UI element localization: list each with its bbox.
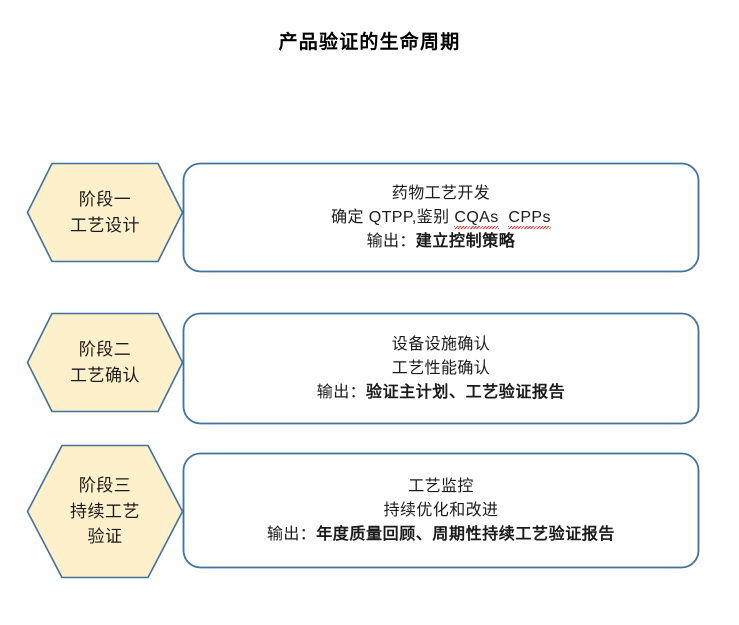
hexagon-shape xyxy=(28,446,183,578)
page-title: 产品验证的生命周期 xyxy=(0,27,739,54)
hexagon-shape xyxy=(28,164,183,262)
stage-row-3: 阶段三 持续工艺 验证 工艺监控 持续优化和改进 输出：年度质量回顾、周期性持续… xyxy=(0,442,739,582)
stage-3-hexagon[interactable] xyxy=(26,444,184,579)
stage-row-1: 阶段一 工艺设计 药物工艺开发 确定 QTPP,鉴别 CQAs CPPs 输出：… xyxy=(0,160,739,278)
box-shape xyxy=(184,314,699,424)
stage-2-box[interactable] xyxy=(182,312,700,425)
stage-row-2: 阶段二 工艺确认 设备设施确认 工艺性能确认 输出：验证主计划、工艺验证报告 xyxy=(0,310,739,428)
stage-3-box[interactable] xyxy=(182,452,700,569)
stage-2-hexagon[interactable] xyxy=(26,312,184,413)
stage-1-hexagon[interactable] xyxy=(26,162,184,263)
box-shape xyxy=(184,454,699,568)
box-shape xyxy=(184,164,699,272)
stage-1-box[interactable] xyxy=(182,162,700,273)
hexagon-shape xyxy=(28,314,183,412)
lifecycle-diagram: 产品验证的生命周期 阶段一 工艺设计 药物工艺开发 确定 QTPP,鉴别 CQA… xyxy=(0,0,739,625)
